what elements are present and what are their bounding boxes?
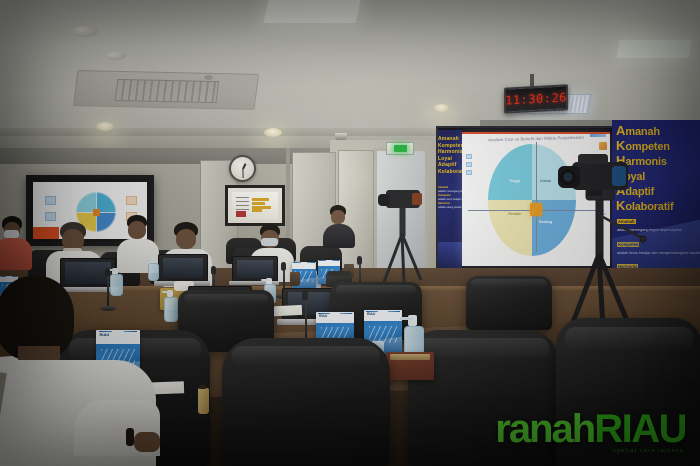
frame-bar [252,198,269,201]
watermark-ranah: ranah [495,410,594,448]
card-logo-right [388,311,399,312]
foreground-participant [0,276,160,466]
ac-vent [73,70,259,110]
card-header-band [318,260,340,266]
frame-bar [252,206,270,209]
drink-bottle[interactable] [198,388,209,414]
chair[interactable] [466,276,552,330]
ceiling-panel-light [263,0,360,23]
slide-accent-tab [33,227,59,239]
card-logo-right [332,260,339,261]
chart-center-marker [93,209,100,216]
ceiling-panel-light [617,40,692,58]
torso [0,238,32,270]
pump-nozzle [162,291,171,293]
exit-sign [386,142,414,155]
wristwatch [126,428,134,446]
box-lid-plate [390,354,430,361]
downlight [96,122,114,131]
card-logo-left [293,262,300,263]
watermark-logo: ranah RIAU [495,410,686,448]
card-logo-right [340,313,351,314]
frame-face [232,192,278,219]
watermark-riau: RIAU [594,410,686,448]
pump-nozzle [400,317,413,320]
pump-nozzle [146,259,153,261]
head [128,221,146,239]
downlight [264,128,282,137]
frame-bar [252,202,265,205]
ceiling-fixture [106,52,126,60]
card-code: RIAU [367,312,375,316]
laptop-screen [158,254,208,284]
akhlak-letter: A [616,124,625,137]
phone-handset[interactable] [327,271,351,276]
digital-clock-time: 11:30:26 [505,90,567,107]
pump-nozzle [261,279,270,281]
frame-seal [236,211,246,217]
torso [323,224,355,248]
smoke-detector-icon [204,75,213,80]
frame-bar [252,209,262,212]
analog-wall-clock [229,155,256,182]
downlight [434,104,449,112]
slide-callout [126,196,137,205]
head [176,229,196,249]
card-logo-right [307,262,314,263]
akhlak-word-rest: manah [625,126,659,139]
card-header-band: RIAU [364,310,402,321]
slide-callout [45,196,56,205]
coffee-cup[interactable] [290,272,300,286]
frame-text-block [236,197,249,213]
camera-tripod-secondary [378,186,432,286]
card-logo-left [319,260,326,261]
card-header-band [292,262,316,269]
digital-wall-clock: 11:30:26 [504,84,568,113]
wooden-gavel-box[interactable] [386,352,434,380]
framed-wall-chart [225,185,285,226]
slide-callout [45,212,56,221]
meeting-room-photo: Amanah Kompeten Harmonis Loyal Adaptif K… [0,0,700,466]
dslr-camera [558,154,628,196]
card-code: RIAU [319,314,327,318]
hand [134,432,160,452]
chair[interactable] [222,338,390,466]
bottle-cap [199,385,206,389]
akhlak-row: A manah [616,124,674,139]
face-mask [261,238,278,246]
card-header-band: RIAU [316,312,354,323]
exit-sign-icon [394,145,407,152]
bottle-body [164,297,178,322]
head [331,210,345,224]
clock-minute-hand [242,169,244,178]
face-mask [4,230,19,238]
ceiling-fixture [72,26,98,37]
watermark-tagline: ngeliat cara lainnya [613,448,684,454]
